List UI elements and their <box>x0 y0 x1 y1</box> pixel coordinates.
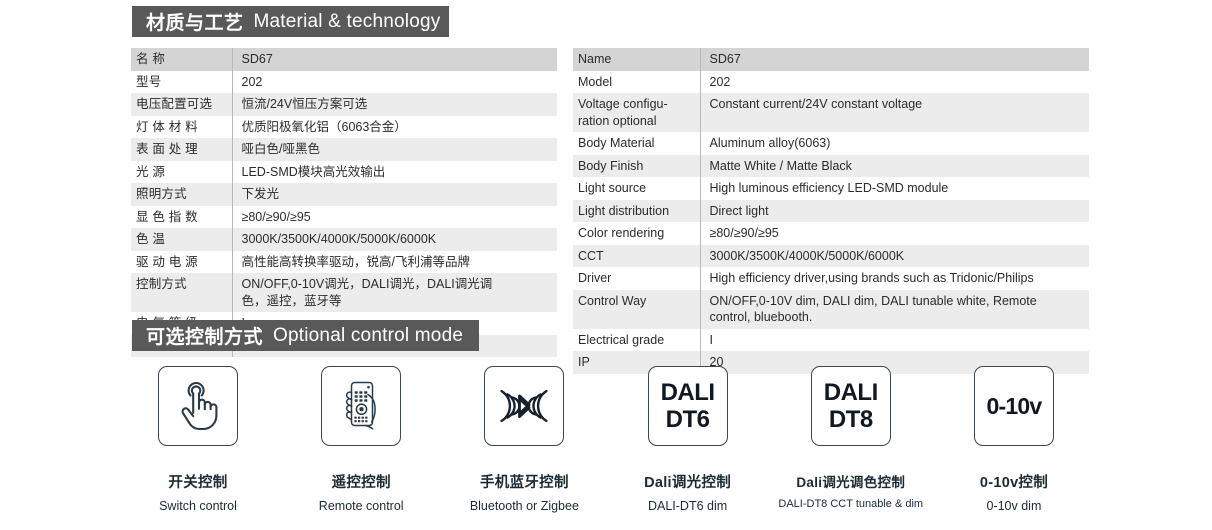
control-mode-switch[interactable]: 开关控制 Switch control <box>122 366 274 513</box>
control-mode-bluetooth[interactable]: 手机蓝牙控制 Bluetooth or Zigbee <box>448 366 600 513</box>
spec-cn-row-value: ON/OFF,0-10V调光，DALI调光，DALI调光调 色，遥控，蓝牙等 <box>232 273 557 312</box>
spec-en-row-value: High luminous efficiency LED-SMD module <box>700 177 1089 200</box>
table-row: 型号202 <box>131 71 557 94</box>
spec-en-row-key: Control Way <box>573 290 700 329</box>
control-mode-dali-dt6-card[interactable]: DALI DT6 <box>648 366 728 446</box>
table-row: 电压配置可选恒流/24V恒压方案可选 <box>131 93 557 116</box>
spec-en-row-value: I <box>700 329 1089 352</box>
section-header-material: 材质与工艺 Material & technology <box>132 6 449 37</box>
spec-en-row-value: Aluminum alloy(6063) <box>700 132 1089 155</box>
spec-en-row-key: Model <box>573 71 700 94</box>
table-row: 光 源LED-SMD模块高光效输出 <box>131 161 557 184</box>
control-mode-0-10v-label-en: 0-10v dim <box>986 499 1041 513</box>
spec-cn-row-key: 电压配置可选 <box>131 93 232 116</box>
table-row: 控制方式ON/OFF,0-10V调光，DALI调光，DALI调光调 色，遥控，蓝… <box>131 273 557 312</box>
table-row: Electrical gradeI <box>573 329 1089 352</box>
table-row: Color rendering≥80/≥90/≥95 <box>573 222 1089 245</box>
spec-en-row-key: CCT <box>573 245 700 268</box>
spec-cn-row-value: 高性能高转换率驱动，锐高/飞利浦等品牌 <box>232 251 557 274</box>
spec-cn-row-key: 表 面 处 理 <box>131 138 232 161</box>
spec-en-row-key: Voltage configu- ration optional <box>573 93 700 132</box>
spec-cn-row-value: 优质阳极氧化铝（6063合金） <box>232 116 557 139</box>
control-mode-remote-card[interactable] <box>321 366 401 446</box>
control-mode-list: 开关控制 Switch control <box>122 366 1090 516</box>
table-row: CCT3000K/3500K/4000K/5000K/6000K <box>573 245 1089 268</box>
dali-dt6-icon: DALI DT6 <box>661 381 715 432</box>
spec-cn-row-value: 哑白色/哑黑色 <box>232 138 557 161</box>
dali-dt6-line1: DALI <box>661 381 715 405</box>
bluetooth-icon <box>495 385 553 427</box>
table-row: 照明方式下发光 <box>131 183 557 206</box>
table-row: Control WayON/OFF,0-10V dim, DALI dim, D… <box>573 290 1089 329</box>
dali-dt8-icon: DALI DT8 <box>824 381 878 432</box>
spec-cn-row-value: ≥80/≥90/≥95 <box>232 206 557 229</box>
control-mode-bluetooth-label-cn: 手机蓝牙控制 <box>480 471 569 492</box>
spec-cn-row-value: 202 <box>232 71 557 94</box>
spec-cn-row-key: 照明方式 <box>131 183 232 206</box>
control-mode-dali-dt8-label-cn: Dali调光调色控制 <box>796 471 905 491</box>
section-header-optional-control: 可选控制方式 Optional control mode <box>132 320 479 351</box>
spec-en-row-key: Color rendering <box>573 222 700 245</box>
table-row: Body FinishMatte White / Matte Black <box>573 155 1089 178</box>
control-mode-dali-dt8-card[interactable]: DALI DT8 <box>811 366 891 446</box>
spec-en-row-value: 202 <box>700 71 1089 94</box>
control-mode-dali-dt6[interactable]: DALI DT6 Dali调光控制 DALI-DT6 dim <box>612 366 764 513</box>
remote-control-icon <box>335 378 387 434</box>
spec-en-row-value: Direct light <box>700 200 1089 223</box>
control-mode-dali-dt8-label-en: DALI-DT8 CCT tunable & dim <box>778 498 923 510</box>
spec-cn-row-key: 控制方式 <box>131 273 232 312</box>
control-mode-0-10v-label-cn: 0-10v控制 <box>980 471 1048 492</box>
spec-en-row-key: Driver <box>573 267 700 290</box>
control-mode-remote[interactable]: 遥控控制 Remote control <box>285 366 437 513</box>
spec-cn-row-key: 型号 <box>131 71 232 94</box>
spec-en-row-value: 3000K/3500K/4000K/5000K/6000K <box>700 245 1089 268</box>
spec-en-row-key: Light distribution <box>573 200 700 223</box>
control-mode-dali-dt8[interactable]: DALI DT8 Dali调光调色控制 DALI-DT8 CCT tunable… <box>775 366 927 510</box>
spec-cn-row-value: 恒流/24V恒压方案可选 <box>232 93 557 116</box>
spec-en-row-value: High efficiency driver,using brands such… <box>700 267 1089 290</box>
zero-ten-volt-icon: 0-10v <box>987 393 1042 420</box>
spec-cn-row-key: 显 色 指 数 <box>131 206 232 229</box>
table-row: 灯 体 材 料优质阳极氧化铝（6063合金） <box>131 116 557 139</box>
spec-table-english: NameSD67Model202Voltage configu- ration … <box>573 48 1089 374</box>
table-row: 色 温3000K/3500K/4000K/5000K/6000K <box>131 228 557 251</box>
control-mode-dali-dt6-label-en: DALI-DT6 dim <box>648 499 727 513</box>
table-row: Light sourceHigh luminous efficiency LED… <box>573 177 1089 200</box>
spec-en-row-value: ON/OFF,0-10V dim, DALI dim, DALI tunable… <box>700 290 1089 329</box>
dali-dt6-line2: DT6 <box>661 408 715 432</box>
control-mode-switch-card[interactable] <box>158 366 238 446</box>
section-header-optional-en: Optional control mode <box>273 325 463 347</box>
section-header-optional-cn: 可选控制方式 <box>146 322 263 349</box>
spec-en-row-value: ≥80/≥90/≥95 <box>700 222 1089 245</box>
spec-cn-row-value: 下发光 <box>232 183 557 206</box>
spec-cn-row-value: LED-SMD模块高光效输出 <box>232 161 557 184</box>
control-mode-dali-dt6-label-cn: Dali调光控制 <box>644 471 731 492</box>
table-row: 表 面 处 理哑白色/哑黑色 <box>131 138 557 161</box>
table-row: Body MaterialAluminum alloy(6063) <box>573 132 1089 155</box>
spec-table-english-body: NameSD67Model202Voltage configu- ration … <box>573 48 1089 374</box>
spec-table-chinese-body: 名 称SD67型号202电压配置可选恒流/24V恒压方案可选灯 体 材 料优质阳… <box>131 48 557 357</box>
control-mode-0-10v[interactable]: 0-10v 0-10v控制 0-10v dim <box>938 366 1090 513</box>
spec-cn-row-key: 光 源 <box>131 161 232 184</box>
dali-dt8-line2: DT8 <box>824 408 878 432</box>
touch-hand-icon <box>174 380 222 432</box>
control-mode-switch-label-cn: 开关控制 <box>168 471 227 492</box>
spec-en-row-key: Light source <box>573 177 700 200</box>
table-row: DriverHigh efficiency driver,using brand… <box>573 267 1089 290</box>
dali-dt8-line1: DALI <box>824 381 878 405</box>
spec-en-row-value: Constant current/24V constant voltage <box>700 93 1089 132</box>
table-row: NameSD67 <box>573 48 1089 71</box>
spec-en-row-value: Matte White / Matte Black <box>700 155 1089 178</box>
table-row: 显 色 指 数≥80/≥90/≥95 <box>131 206 557 229</box>
spec-cn-row-value: 3000K/3500K/4000K/5000K/6000K <box>232 228 557 251</box>
table-row: Light distributionDirect light <box>573 200 1089 223</box>
spec-en-row-key: Body Material <box>573 132 700 155</box>
spec-en-row-value: SD67 <box>700 48 1089 71</box>
control-mode-remote-label-en: Remote control <box>319 499 404 513</box>
section-header-material-en: Material & technology <box>254 11 441 33</box>
spec-cn-row-key: 名 称 <box>131 48 232 71</box>
table-row: 名 称SD67 <box>131 48 557 71</box>
table-row: Voltage configu- ration optionalConstant… <box>573 93 1089 132</box>
spec-en-row-key: Name <box>573 48 700 71</box>
spec-cn-row-key: 色 温 <box>131 228 232 251</box>
control-mode-switch-label-en: Switch control <box>159 499 237 513</box>
control-mode-remote-label-cn: 遥控控制 <box>332 471 391 492</box>
section-header-material-cn: 材质与工艺 <box>146 8 244 35</box>
control-mode-0-10v-card[interactable]: 0-10v <box>974 366 1054 446</box>
table-row: Model202 <box>573 71 1089 94</box>
spec-en-row-key: Body Finish <box>573 155 700 178</box>
spec-en-row-key: Electrical grade <box>573 329 700 352</box>
control-mode-bluetooth-label-en: Bluetooth or Zigbee <box>470 499 579 513</box>
spec-cn-row-key: 驱 动 电 源 <box>131 251 232 274</box>
spec-cn-row-key: 灯 体 材 料 <box>131 116 232 139</box>
control-mode-bluetooth-card[interactable] <box>484 366 564 446</box>
table-row: 驱 动 电 源高性能高转换率驱动，锐高/飞利浦等品牌 <box>131 251 557 274</box>
spec-cn-row-value: SD67 <box>232 48 557 71</box>
spec-table-chinese: 名 称SD67型号202电压配置可选恒流/24V恒压方案可选灯 体 材 料优质阳… <box>131 48 557 357</box>
